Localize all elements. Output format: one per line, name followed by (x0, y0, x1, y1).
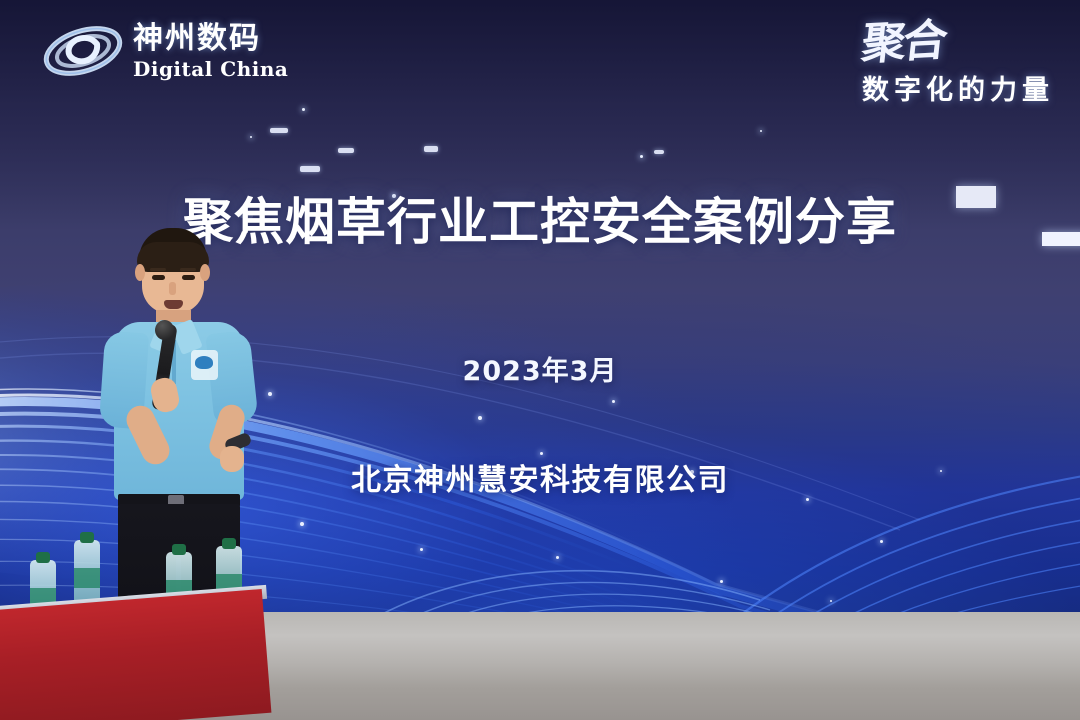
event-calligraphy-title: 聚合 (859, 20, 946, 66)
logo-english-name: Digital China (133, 59, 288, 79)
speaker-eyebrow-left (150, 268, 166, 271)
speaker-eye-right (182, 275, 195, 280)
speaker-eyebrow-right (180, 268, 196, 271)
logo-chinese-name: 神州数码 (133, 24, 288, 54)
digital-china-swirl-icon (42, 18, 124, 84)
speaker-hand-right (220, 446, 244, 472)
table-red-drape (0, 589, 271, 720)
bottle-cap (36, 552, 50, 563)
bottle-cap (172, 544, 186, 555)
conference-stage-photo: 神州数码 Digital China 聚合 数字化的力量 聚焦烟草行业工控安全案… (0, 0, 1080, 720)
event-brand-lockup: 聚合 数字化的力量 (862, 22, 1054, 107)
speaker-ear-left (135, 264, 145, 281)
speaker-nose (169, 282, 176, 295)
bottle-cap (80, 532, 94, 543)
speaker-fringe (137, 242, 209, 272)
speaker-eye-left (152, 275, 165, 280)
digital-china-logo: 神州数码 Digital China (42, 18, 288, 84)
speaker-badge-logo-icon (195, 356, 213, 369)
speaker-ear-right (200, 264, 210, 281)
bottle-cap (222, 538, 236, 549)
event-tagline: 数字化的力量 (862, 68, 1054, 107)
speaker-mouth (164, 300, 183, 309)
bottle-label (74, 568, 100, 588)
